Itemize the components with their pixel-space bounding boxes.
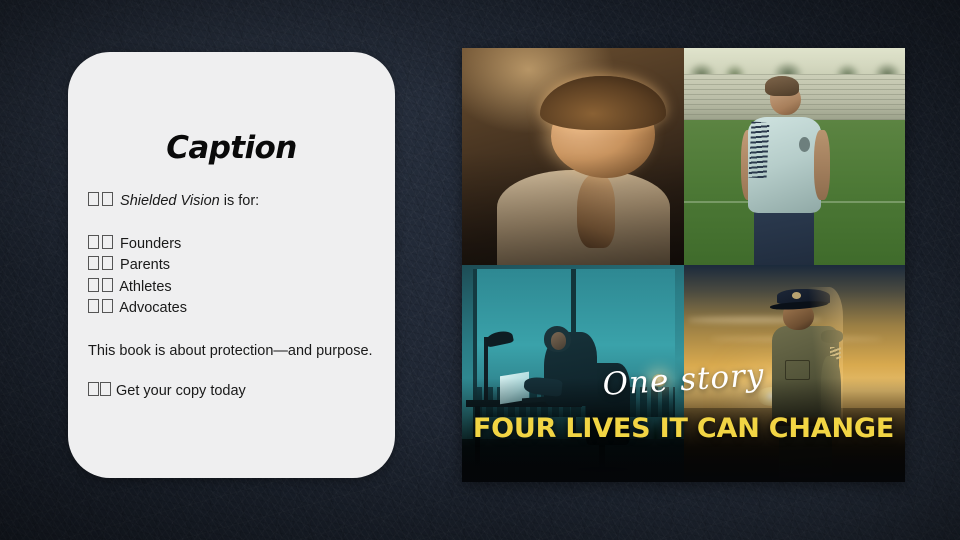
- bullet-glyph-icon: [100, 382, 111, 396]
- collage-photo-top-right: [684, 48, 906, 265]
- body-paragraph: This book is about protection—and purpos…: [88, 340, 378, 362]
- list-item: Parents: [88, 255, 378, 277]
- bullet-glyph-icon: [88, 256, 99, 270]
- list-item-label: Founders: [120, 236, 181, 252]
- list-item-label: Advocates: [119, 300, 187, 316]
- bullet-glyph-icon: [88, 299, 99, 313]
- office-floor: [462, 439, 684, 482]
- list-item: Founders: [88, 234, 378, 256]
- photo-athlete-image: [684, 48, 906, 265]
- list-item: Advocates: [88, 298, 378, 320]
- bullet-glyph-icon: [88, 235, 99, 249]
- photo-boy-image: [462, 48, 684, 265]
- overlay-headline-text: FOUR LIVES IT CAN CHANGE: [462, 413, 905, 444]
- photo-collage: One story FOUR LIVES IT CAN CHANGE: [462, 48, 905, 482]
- list-item: Athletes: [88, 277, 378, 299]
- slide-canvas: Caption Shielded Vision is for: Founders…: [0, 0, 960, 540]
- cta-line: Get your copy today: [88, 381, 378, 403]
- collage-photo-top-left: [462, 48, 684, 265]
- bullet-glyph-icon: [102, 235, 113, 249]
- audience-list: Founders Parents Athletes Advocates: [88, 234, 378, 320]
- list-item-label: Parents: [120, 257, 170, 273]
- bullet-glyph-icon: [102, 256, 113, 270]
- bullet-glyph-icon: [88, 278, 99, 292]
- intro-line: Shielded Vision is for:: [88, 191, 378, 213]
- bullet-glyph-icon: [88, 192, 99, 206]
- boy-shadow-overlay: [462, 48, 684, 265]
- cta-label: Get your copy today: [116, 383, 246, 399]
- list-item-label: Athletes: [119, 279, 171, 295]
- bullet-glyph-icon: [102, 299, 113, 313]
- bullet-glyph-icon: [102, 192, 113, 206]
- intro-trailing-text: is for:: [220, 193, 259, 209]
- book-title-emphasis: Shielded Vision: [120, 193, 220, 209]
- caption-body: Shielded Vision is for: Founders Parents…: [88, 191, 378, 402]
- page-title: Caption: [68, 130, 395, 166]
- founder-face: [551, 332, 567, 349]
- bullet-glyph-icon: [102, 278, 113, 292]
- athlete-haze-overlay: [684, 48, 906, 265]
- bullet-glyph-icon: [88, 382, 99, 396]
- caption-card: Caption Shielded Vision is for: Founders…: [68, 52, 395, 478]
